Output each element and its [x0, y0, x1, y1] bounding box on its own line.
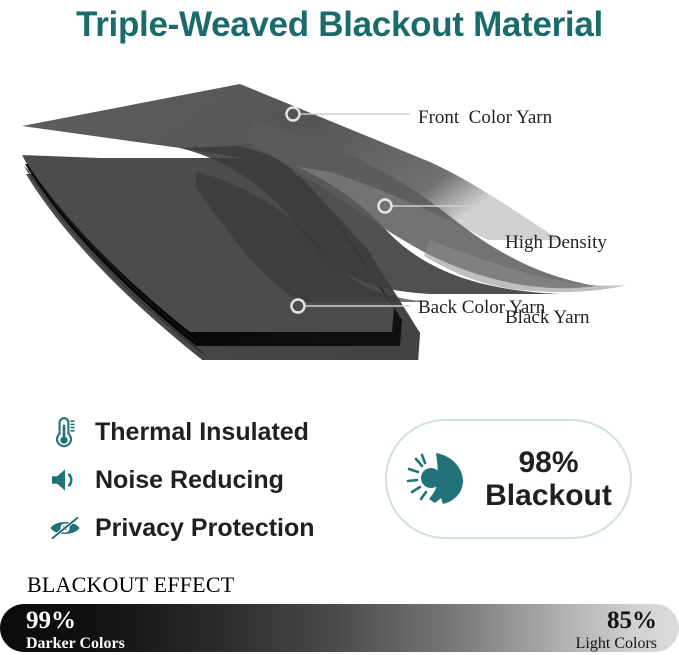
feature-item-privacy-protection: Privacy Protection	[45, 504, 375, 552]
badge-text-block: 98% Blackout	[485, 446, 612, 512]
feature-label-thermal-insulated: Thermal Insulated	[95, 418, 309, 447]
sun-behind-curtain-icon	[405, 447, 479, 511]
feature-item-thermal-insulated: Thermal Insulated	[45, 408, 375, 456]
bar-left-label: Darker Colors	[26, 634, 125, 652]
callout-high-line1: High Density	[505, 230, 607, 255]
badge-label: Blackout	[485, 479, 612, 512]
feature-label-privacy-protection: Privacy Protection	[95, 514, 315, 543]
blackout-effect-title: BLACKOUT EFFECT	[27, 572, 234, 598]
page-title: Triple-Weaved Blackout Material	[0, 0, 679, 47]
blackout-effect-gradient-bar: 99% Darker Colors 85% Light Colors	[0, 604, 679, 652]
callout-label-front-color-yarn: Front Color Yarn	[418, 105, 552, 130]
thermometer-icon	[45, 412, 85, 452]
bar-right-percent: 85%	[576, 607, 657, 634]
bar-right-label: Light Colors	[576, 634, 657, 652]
callout-label-back-color-yarn: Back Color Yarn	[418, 295, 545, 320]
bar-left-percent: 99%	[26, 607, 125, 634]
eye-slash-icon	[45, 508, 85, 548]
feature-item-noise-reducing: Noise Reducing	[45, 456, 375, 504]
speaker-sound-icon	[45, 460, 85, 500]
blackout-badge: 98% Blackout	[385, 419, 632, 539]
feature-label-noise-reducing: Noise Reducing	[95, 466, 284, 495]
callout-label-high-density-black-yarn: High Density Black Yarn	[505, 180, 607, 355]
badge-percent: 98%	[485, 446, 612, 479]
bar-left-value: 99% Darker Colors	[26, 607, 125, 652]
feature-list: Thermal Insulated Noise Reducing Privacy…	[45, 408, 375, 552]
bar-right-value: 85% Light Colors	[576, 607, 657, 652]
